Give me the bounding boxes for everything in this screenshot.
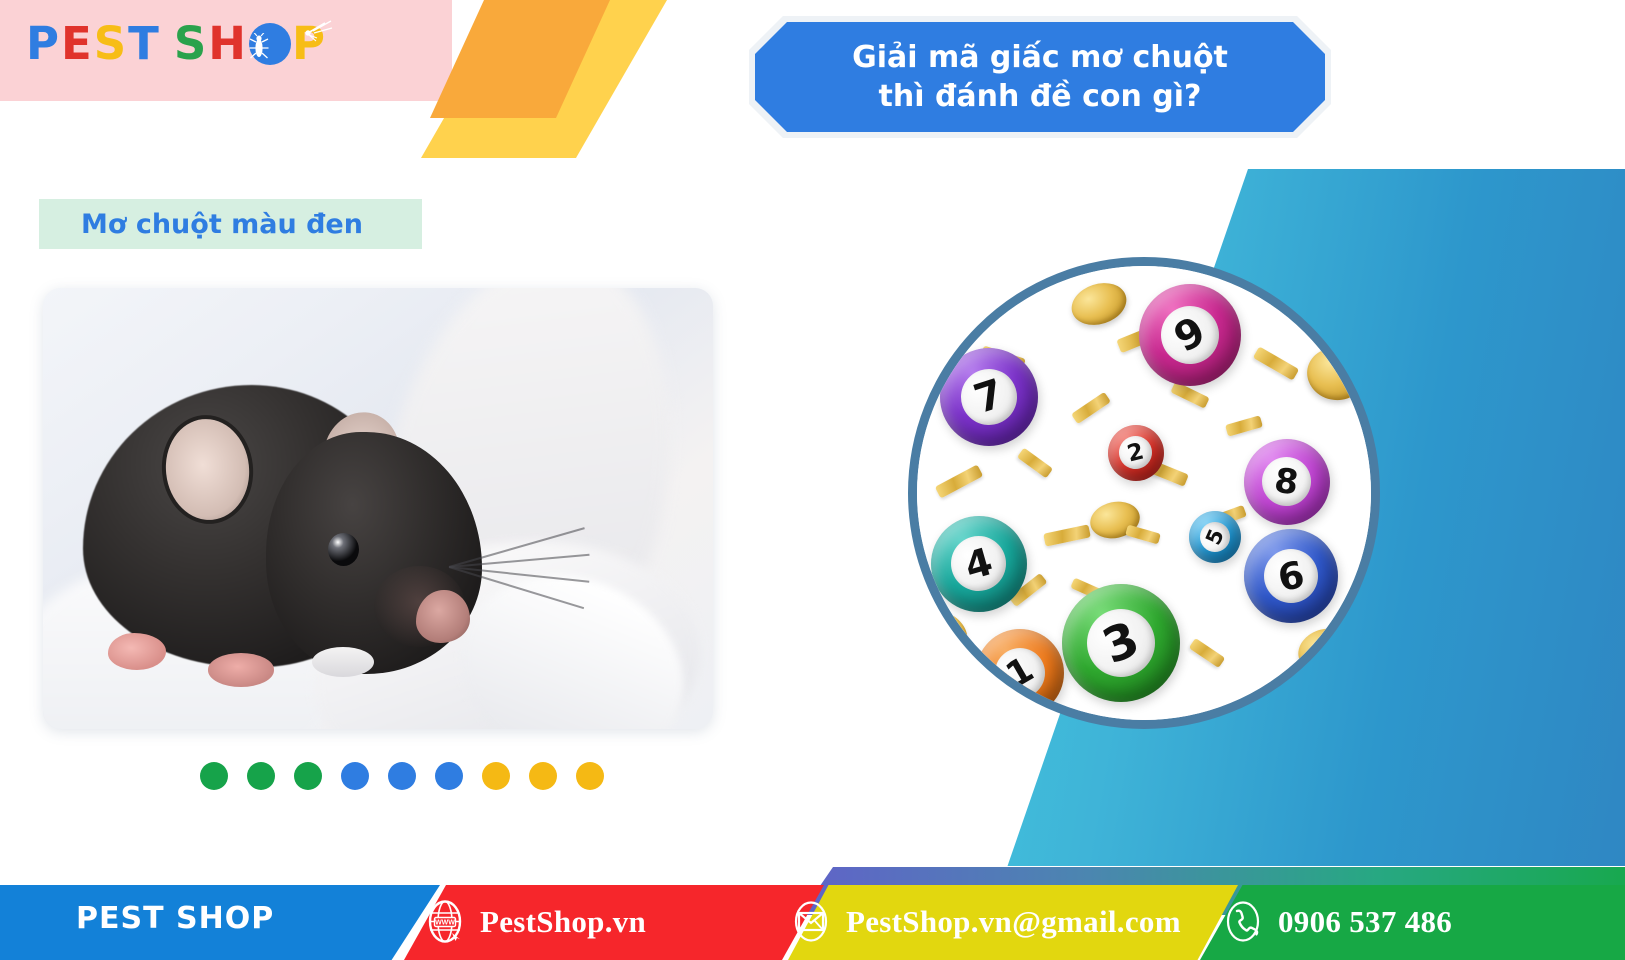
lottery-ball-number: 5: [1196, 517, 1236, 557]
gold-ribbon: [1017, 447, 1053, 478]
lottery-ball-number: 9: [1151, 296, 1229, 374]
lottery-ball-number: 2: [1116, 433, 1156, 473]
gold-ribbon: [1253, 346, 1299, 380]
black-mouse: [83, 359, 498, 694]
gold-ribbon: [1071, 392, 1111, 424]
footer-bar: PEST SHOP WWW PestShop.vn PestShop.vn@gm…: [0, 855, 1625, 960]
lottery-scene: 9 7 2 8 5 4 6 3: [917, 266, 1371, 720]
decor-dot: [341, 762, 369, 790]
mouse-photo: [43, 288, 713, 729]
section-label-chip: Mơ chuột màu đen: [39, 199, 422, 249]
footer-email[interactable]: PestShop.vn@gmail.com: [790, 899, 1181, 944]
lottery-ball: 9: [1139, 284, 1241, 386]
logo-letter-h: H: [208, 21, 248, 66]
lottery-ball-number: 8: [1259, 454, 1314, 509]
envelope-icon: [790, 899, 832, 944]
footer-phone[interactable]: 0906 537 486: [1222, 899, 1452, 944]
banner-title-line-2: thì đánh đề con gì?: [879, 77, 1202, 116]
mouse-photo-card: [43, 288, 713, 729]
lottery-ball-number: 3: [1077, 599, 1166, 688]
mouse-foot-rear: [108, 633, 166, 670]
infographic-canvas: P E S T S H P: [0, 0, 1625, 960]
mosquito-icon: [305, 19, 333, 43]
footer-website[interactable]: WWW PestShop.vn: [424, 899, 646, 944]
gold-ribbon: [1043, 525, 1091, 547]
decor-dot: [435, 762, 463, 790]
decor-dot: [294, 762, 322, 790]
lottery-ball: 5: [1189, 511, 1241, 563]
footer-email-text: PestShop.vn@gmail.com: [846, 904, 1181, 940]
svg-text:WWW: WWW: [435, 920, 455, 927]
logo-letter-p1: P: [26, 21, 61, 66]
decor-dot: [388, 762, 416, 790]
title-banner: Giải mã giấc mơ chuột thì đánh đề con gì…: [755, 22, 1325, 132]
decor-dot: [247, 762, 275, 790]
lottery-ball: 8: [1244, 439, 1330, 525]
gold-coin: [1303, 342, 1371, 405]
gold-coin: [1294, 623, 1359, 679]
footer-logo[interactable]: PEST SHOP: [76, 901, 274, 936]
gold-coin: [1067, 276, 1133, 331]
gold-ribbon: [1125, 525, 1161, 545]
gold-ribbon: [1189, 638, 1226, 668]
logo-letter-s1: S: [94, 21, 128, 66]
lottery-ball-number: 4: [945, 530, 1013, 598]
decor-dot: [482, 762, 510, 790]
gold-ribbon: [1225, 416, 1263, 437]
gold-coin: [917, 602, 975, 670]
mouse-foot-mid: [208, 653, 274, 687]
phone-icon: [1222, 899, 1264, 944]
lottery-ball-number: 7: [953, 361, 1024, 432]
lottery-ball: 7: [940, 348, 1038, 446]
logo-letter-e: E: [61, 21, 94, 66]
decor-dot-row: [200, 762, 604, 790]
section-label-text: Mơ chuột màu đen: [39, 209, 363, 240]
footer-logo-text: PEST SHOP: [76, 901, 274, 936]
lottery-ball: 2: [1108, 425, 1164, 481]
lottery-ball: 1: [976, 629, 1064, 717]
lottery-illustration: 9 7 2 8 5 4 6 3: [908, 257, 1380, 729]
lottery-ball: 6: [1244, 529, 1338, 623]
lottery-ball-number: 6: [1259, 544, 1323, 608]
mouse-nose: [416, 590, 470, 644]
decor-dot: [576, 762, 604, 790]
decor-dot: [529, 762, 557, 790]
banner-title-line-1: Giải mã giấc mơ chuột: [852, 38, 1228, 77]
cockroach-icon: [249, 23, 291, 65]
lottery-ball: 4: [931, 516, 1027, 612]
lottery-ball-number: 1: [986, 639, 1054, 707]
logo-letter-p2: P: [292, 21, 327, 66]
footer-website-text: PestShop.vn: [480, 904, 646, 940]
footer-logo-label: PEST SHOP: [76, 901, 274, 936]
mouse-front-paw: [312, 647, 374, 677]
footer-phone-text: 0906 537 486: [1278, 904, 1452, 940]
banner-body: Giải mã giấc mơ chuột thì đánh đề con gì…: [755, 22, 1325, 132]
logo-letter-s2: S: [174, 21, 208, 66]
globe-icon: WWW: [424, 899, 466, 944]
lottery-ball: 3: [1062, 584, 1180, 702]
logo-letter-t: T: [128, 21, 161, 66]
gold-ribbon: [935, 464, 983, 498]
decor-dot: [200, 762, 228, 790]
brand-logo[interactable]: P E S T S H P: [26, 21, 327, 66]
